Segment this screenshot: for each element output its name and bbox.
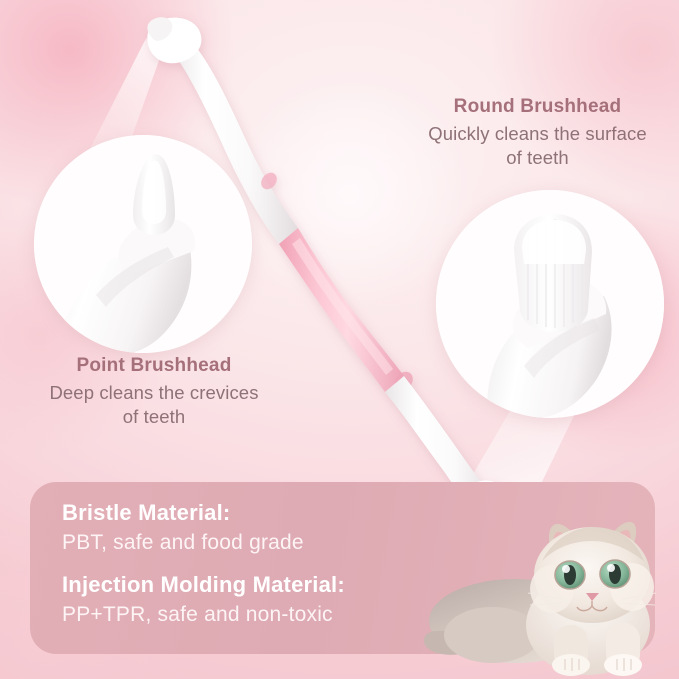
zoom-circle-point-brushhead — [34, 135, 252, 353]
spec-bristle-material-label: Bristle Material: — [62, 500, 304, 526]
callout-round-desc-line-2: of teeth — [396, 146, 679, 170]
callout-round-title: Round Brushhead — [396, 96, 679, 118]
callout-point-desc-line-1: Deep cleans the crevices — [8, 381, 300, 405]
spec-bristle-material: Bristle Material: PBT, safe and food gra… — [62, 500, 304, 555]
callout-point-brushhead: Point Brushhead Deep cleans the crevices… — [8, 355, 300, 428]
spec-injection-molding-material: Injection Molding Material: PP+TPR, safe… — [62, 572, 345, 627]
zoom-circle-round-brushhead — [436, 190, 664, 418]
callout-round-desc-line-1: Quickly cleans the surface — [396, 122, 679, 146]
spec-bristle-material-value: PBT, safe and food grade — [62, 531, 304, 555]
spec-injection-molding-material-value: PP+TPR, safe and non-toxic — [62, 603, 345, 627]
infographic-canvas: Round Brushhead Quickly cleans the surfa… — [0, 0, 679, 679]
callout-round-description: Quickly cleans the surface of teeth — [396, 122, 679, 169]
spec-injection-molding-material-label: Injection Molding Material: — [62, 572, 345, 598]
cat-photo — [420, 513, 679, 679]
callout-point-desc-line-2: of teeth — [8, 405, 300, 429]
callout-round-brushhead: Round Brushhead Quickly cleans the surfa… — [396, 96, 679, 169]
callout-point-description: Deep cleans the crevices of teeth — [8, 381, 300, 428]
callout-point-title: Point Brushhead — [8, 355, 300, 377]
